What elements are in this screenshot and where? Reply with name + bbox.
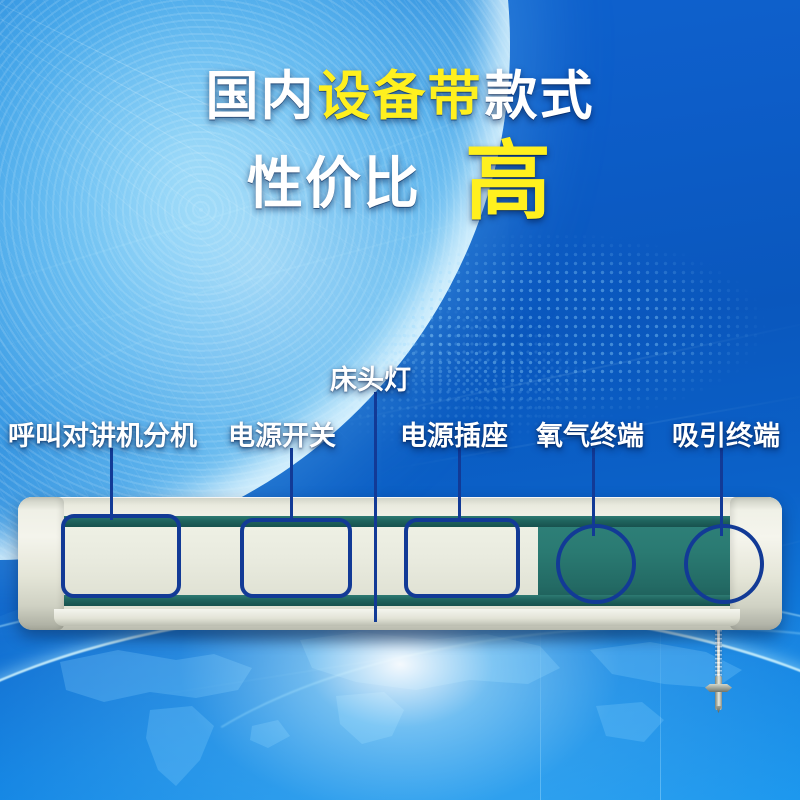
callout-label-socket: 电源插座 — [400, 414, 508, 453]
headline-part-equipment-belt: 设备带 — [318, 67, 483, 126]
headline-part-style: 款式 — [485, 67, 595, 126]
callout-label-bed-lamp: 床头灯 — [330, 358, 411, 397]
callout-label-intercom: 呼叫对讲机分机 — [8, 414, 197, 453]
callout-label-switch: 电源开关 — [228, 414, 336, 453]
headline-block: 国内设备带款式 性价比高 — [0, 70, 800, 225]
headline-part-value-ratio: 性价比 — [247, 152, 421, 215]
headline-part-high: 高 — [465, 134, 553, 230]
headline-line-2: 性价比高 — [0, 139, 800, 225]
headline-line-1: 国内设备带款式 — [0, 70, 800, 123]
callout-label-oxygen: 氧气终端 — [536, 414, 644, 453]
banner-stage: 国内设备带款式 性价比高 呼叫对讲机分机 电源开关 床头灯 电源插座 氧气终端 … — [0, 0, 800, 800]
headline-part-domestic: 国内 — [206, 67, 316, 126]
callout-label-suction: 吸引终端 — [672, 414, 780, 453]
